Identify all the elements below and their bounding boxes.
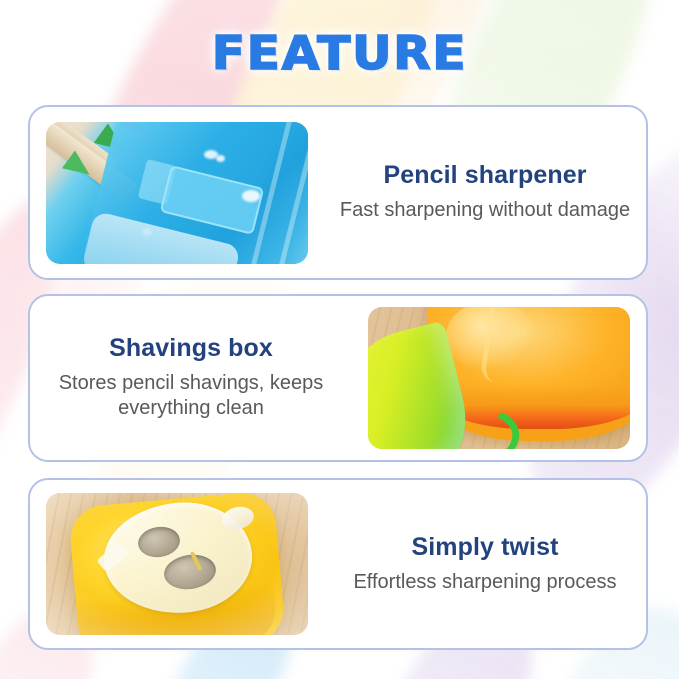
feature-text-pencil-sharpener: Pencil sharpener Fast sharpening without…	[324, 161, 646, 223]
photo-orange-shavings-box	[368, 307, 630, 449]
shavings-box-inner-fold	[479, 307, 593, 395]
highlight-glint-3	[242, 190, 260, 202]
feature-text-shavings-box: Shavings box Stores pencil shavings, kee…	[30, 334, 352, 422]
feature-title: Simply twist	[334, 533, 636, 562]
feature-description: Stores pencil shavings, keeps everything…	[40, 371, 342, 422]
feature-image-pencil-sharpener	[46, 122, 308, 264]
highlight-glint-2	[216, 155, 225, 162]
photo-vignette	[46, 493, 308, 635]
feature-image-shavings-box	[368, 307, 630, 449]
photo-yellow-sharpener	[46, 493, 308, 635]
feature-image-simply-twist	[46, 493, 308, 635]
feature-card-shavings-box: Shavings box Stores pencil shavings, kee…	[28, 294, 648, 462]
feature-text-simply-twist: Simply twist Effortless sharpening proce…	[324, 533, 646, 595]
feature-description: Fast sharpening without damage	[334, 198, 636, 224]
page-title: FEATURE	[212, 26, 467, 80]
feature-card-pencil-sharpener: Pencil sharpener Fast sharpening without…	[28, 105, 648, 280]
feature-card-simply-twist: Simply twist Effortless sharpening proce…	[28, 478, 648, 650]
page-title-wrapper: FEATURE	[0, 26, 679, 80]
photo-blue-sharpener	[46, 122, 308, 264]
feature-page: FEATURE Pencil sharp	[0, 0, 679, 679]
feature-title: Shavings box	[40, 334, 342, 363]
feature-title: Pencil sharpener	[334, 161, 636, 190]
feature-description: Effortless sharpening process	[334, 570, 636, 596]
